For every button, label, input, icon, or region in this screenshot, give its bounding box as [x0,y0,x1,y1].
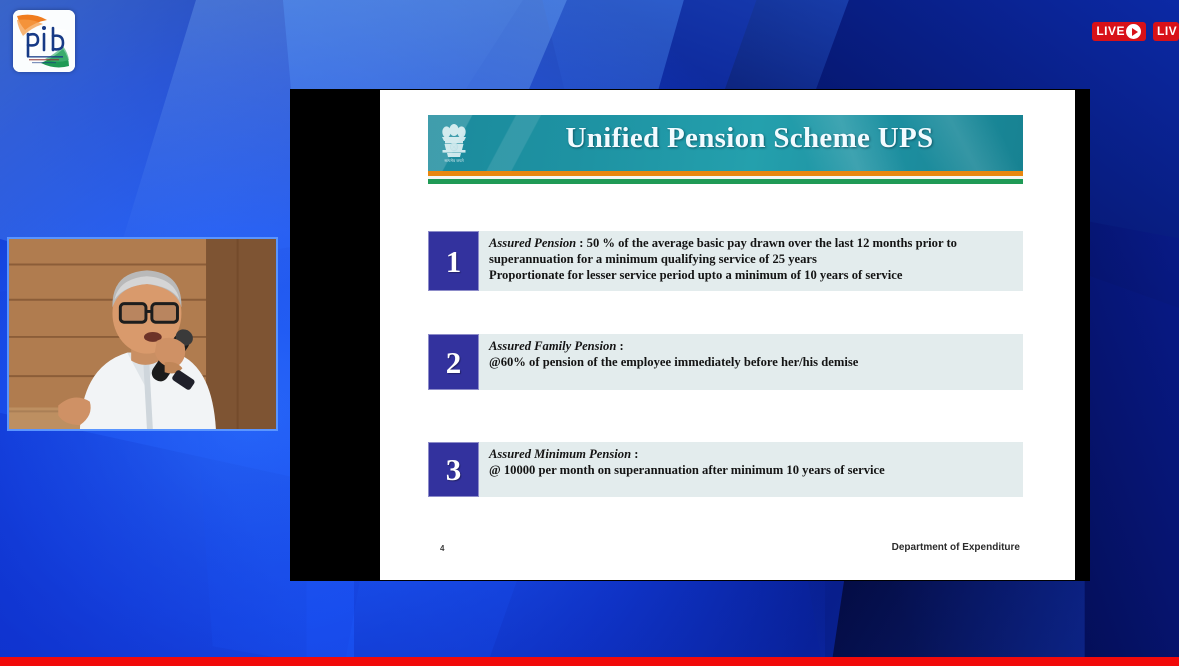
slide-title: Unified Pension Scheme UPS [484,115,1015,161]
item-heading: Assured Family Pension [489,339,616,353]
item-number: 1 [446,246,462,277]
svg-text:सत्यमेव जयते: सत्यमेव जयते [444,158,464,163]
item-number-badge: 3 [428,442,479,497]
live-badge-secondary: LIV [1153,22,1179,41]
live-badge-label: LIVE [1096,24,1125,39]
item-separator: : [631,447,638,461]
india-state-emblem-icon: सत्यमेव जयते [434,117,474,165]
item-body: Assured Minimum Pension : @ 10000 per mo… [479,442,1023,497]
presentation-slide: सत्यमेव जयते Unified Pension Scheme UPS … [380,90,1075,580]
play-icon [1126,24,1141,39]
item-body: Assured Pension : 50 % of the average ba… [479,231,1023,291]
live-badge: LIVE [1092,22,1146,41]
pib-logo [13,10,75,72]
bottom-red-bar [0,657,1179,666]
item-number-badge: 2 [428,334,479,390]
item-body: Assured Family Pension : @60% of pension… [479,334,1023,390]
slide-page-number: 4 [440,544,444,553]
broadcast-screen: LIVE LIV [0,0,1179,666]
item-line: @ 10000 per month on superannuation afte… [489,463,885,477]
item-separator: : [576,236,587,250]
live-badge-secondary-label: LIV [1157,24,1177,39]
item-separator: : [616,339,623,353]
scheme-item-3: 3 Assured Minimum Pension : @ 10000 per … [428,442,1023,497]
item-number: 2 [446,347,462,378]
tricolor-stripes [428,171,1023,184]
item-line: @60% of pension of the employee immediat… [489,355,858,369]
item-heading: Assured Minimum Pension [489,447,631,461]
item-heading: Assured Pension [489,236,576,250]
scheme-item-1: 1 Assured Pension : 50 % of the average … [428,231,1023,291]
item-line: Proportionate for lesser service period … [489,268,902,282]
presenter-video [7,237,278,431]
slide-department-label: Department of Expenditure [892,542,1020,553]
item-number-badge: 1 [428,231,479,291]
live-badge-group: LIVE LIV [1092,22,1179,41]
item-number: 3 [446,454,462,485]
scheme-item-2: 2 Assured Family Pension : @60% of pensi… [428,334,1023,390]
slide-title-banner: सत्यमेव जयते Unified Pension Scheme UPS [428,115,1023,171]
